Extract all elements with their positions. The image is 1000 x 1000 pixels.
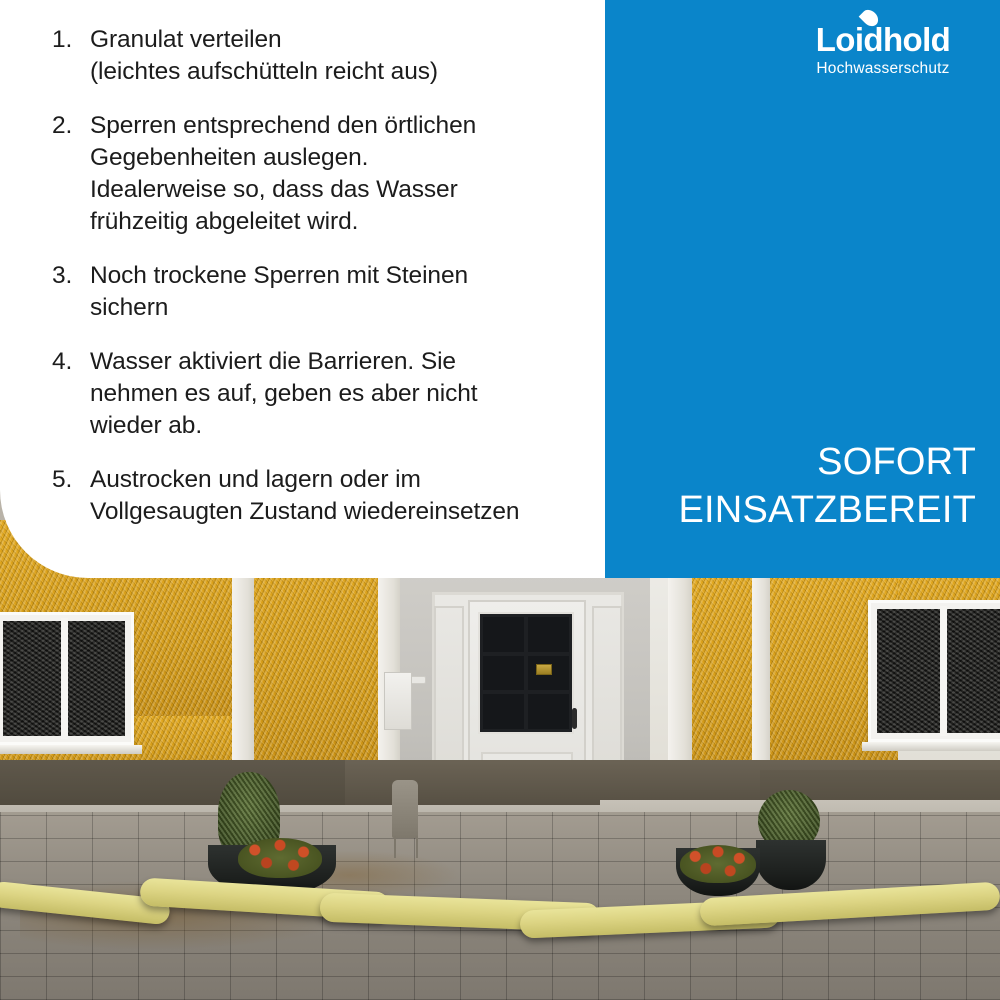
list-item: 4. Wasser aktiviert die Barrieren. Sie n…: [52, 346, 562, 442]
door-handle: [572, 708, 577, 729]
mailbox: [384, 672, 412, 730]
list-item: 3. Noch trockene Sperren mit Steinen sic…: [52, 260, 562, 324]
instructions-panel: 1. Granulat verteilen (leichtes aufschüt…: [0, 0, 605, 578]
window-right-sill: [862, 742, 1000, 751]
door-pane: [528, 694, 569, 729]
door-glass-grid: [478, 612, 574, 734]
house-number-plate: [536, 664, 552, 675]
step-number: 4.: [52, 346, 90, 442]
step-number: 1.: [52, 24, 90, 88]
poster-root: 1. Granulat verteilen (leichtes aufschüt…: [0, 0, 1000, 1000]
list-item: 5. Austrocken und lagern oder im Vollges…: [52, 464, 562, 528]
garden-sculpture-legs: [394, 836, 418, 858]
headline-sofort-einsatzbereit: SOFORT EINSATZBEREIT: [679, 438, 977, 534]
list-item: 1. Granulat verteilen (leichtes aufschüt…: [52, 24, 562, 88]
list-item: 2. Sperren entsprechend den örtlichen Ge…: [52, 110, 562, 238]
step-text: Granulat verteilen (leichtes aufschüttel…: [90, 24, 562, 88]
door-pane: [528, 617, 569, 652]
door-pane: [483, 656, 524, 691]
window-right-glass: [877, 609, 1000, 733]
window-right: [868, 600, 1000, 742]
step-number: 3.: [52, 260, 90, 324]
step-number: 5.: [52, 464, 90, 528]
white-pilaster-4: [752, 560, 770, 786]
step-number: 2.: [52, 110, 90, 238]
brand-panel: Loidhold Hochwasserschutz SOFORT EINSATZ…: [605, 0, 1000, 578]
brand-logo: Loidhold Hochwasserschutz: [788, 22, 978, 78]
white-pilaster-3: [668, 560, 692, 786]
flower-cluster: [680, 845, 756, 883]
window-right-mullion: [940, 606, 947, 736]
window-left-mullion: [61, 618, 68, 739]
brand-logo-subtitle: Hochwasserschutz: [788, 59, 978, 78]
window-left-sill: [0, 745, 142, 754]
step-text: Wasser aktiviert die Barrieren. Sie nehm…: [90, 346, 562, 442]
window-left: [0, 612, 134, 745]
yellow-stucco-right-column-1: [690, 575, 752, 783]
door-pane: [483, 694, 524, 729]
brand-logo-wordmark: Loidhold: [816, 22, 950, 58]
instruction-steps-list: 1. Granulat verteilen (leichtes aufschüt…: [52, 24, 562, 528]
garden-sculpture: [392, 780, 418, 838]
step-text: Austrocken und lagern oder im Vollgesaug…: [90, 464, 562, 528]
step-text: Noch trockene Sperren mit Steinen sicher…: [90, 260, 562, 324]
step-text: Sperren entsprechend den örtlichen Gegeb…: [90, 110, 562, 238]
flower-cluster: [238, 838, 322, 878]
door-pane: [483, 617, 524, 652]
brand-logo-text: Loidhold: [816, 21, 950, 58]
